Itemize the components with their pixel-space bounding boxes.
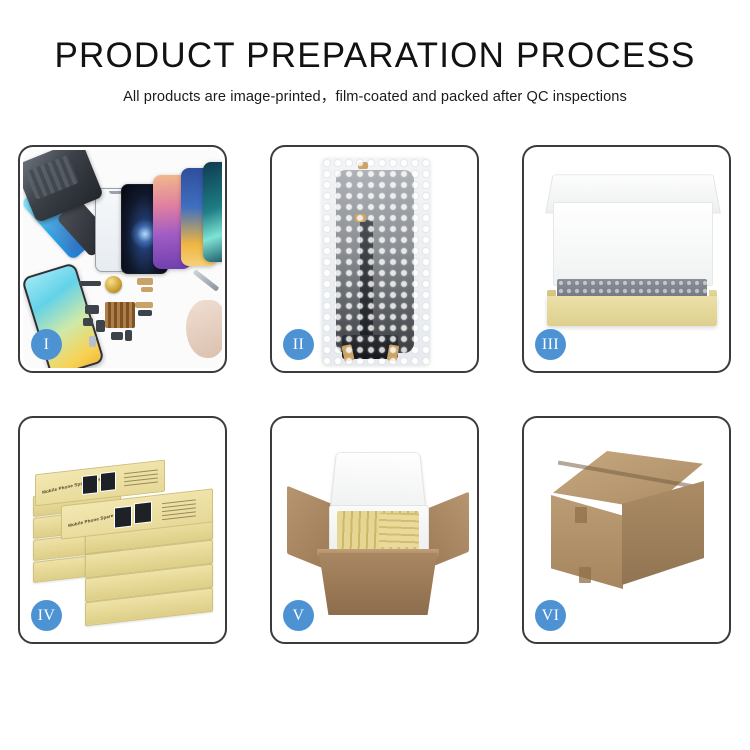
component-cable-1	[135, 302, 153, 308]
step-badge-1: I	[31, 329, 62, 360]
yellow-boxes-inside-2	[379, 513, 419, 547]
component-camera	[89, 336, 96, 347]
step-badge-5: V	[283, 600, 314, 631]
carton-tape-top	[575, 507, 587, 523]
step-badge-2: II	[283, 329, 314, 360]
component-flex-2	[83, 318, 93, 326]
component-button	[125, 330, 132, 341]
component-tan-1	[137, 278, 153, 285]
component-tan-2	[141, 287, 153, 292]
step-panel-6[interactable]: VI	[522, 416, 731, 644]
carton-tape-bottom	[579, 567, 591, 583]
component-flex-1	[85, 305, 99, 314]
step-panel-2[interactable]: II	[270, 145, 479, 373]
foam-cooler-lid	[330, 452, 427, 510]
component-gold-coil	[105, 276, 122, 293]
step-panel-4[interactable]: Mobile Phone Spare Parts Mobile Phone Sp…	[18, 416, 227, 644]
carton-front-panel	[319, 553, 437, 615]
step-badge-4: IV	[31, 600, 62, 631]
step-badge-3: III	[535, 329, 566, 360]
box-front-yellow	[547, 296, 717, 326]
page-title: PRODUCT PREPARATION PROCESS	[0, 36, 750, 76]
wrapped-phone-part	[336, 170, 414, 353]
header: PRODUCT PREPARATION PROCESS All products…	[0, 36, 750, 106]
tape-piece-mid	[355, 214, 366, 222]
step-panel-5[interactable]: V	[270, 416, 479, 644]
component-flex-3	[96, 320, 105, 332]
screwdriver-icon	[193, 269, 220, 291]
tape-piece-top	[358, 162, 368, 169]
product-preparation-page: PRODUCT PREPARATION PROCESS All products…	[0, 0, 750, 750]
component-chip-grid	[105, 302, 135, 328]
process-step-grid: I II	[18, 145, 732, 673]
hand	[186, 300, 222, 358]
foam-sheet	[553, 202, 713, 286]
bubble-wrap-package	[322, 158, 430, 365]
step-panel-1[interactable]: I	[18, 145, 227, 373]
page-subtitle: All products are image-printed，film-coat…	[0, 85, 750, 106]
step-badge-6: VI	[535, 600, 566, 631]
step-panel-3[interactable]: III	[522, 145, 731, 373]
component-bar-1	[79, 281, 101, 286]
box-stack: Mobile Phone Spare Parts Mobile Phone Sp…	[27, 437, 222, 627]
phone-teal-gradient	[203, 162, 222, 262]
tape-piece-br	[387, 344, 400, 361]
component-flex-4	[111, 332, 123, 340]
component-cable-2	[138, 310, 152, 316]
flex-cable-strip	[360, 220, 373, 338]
